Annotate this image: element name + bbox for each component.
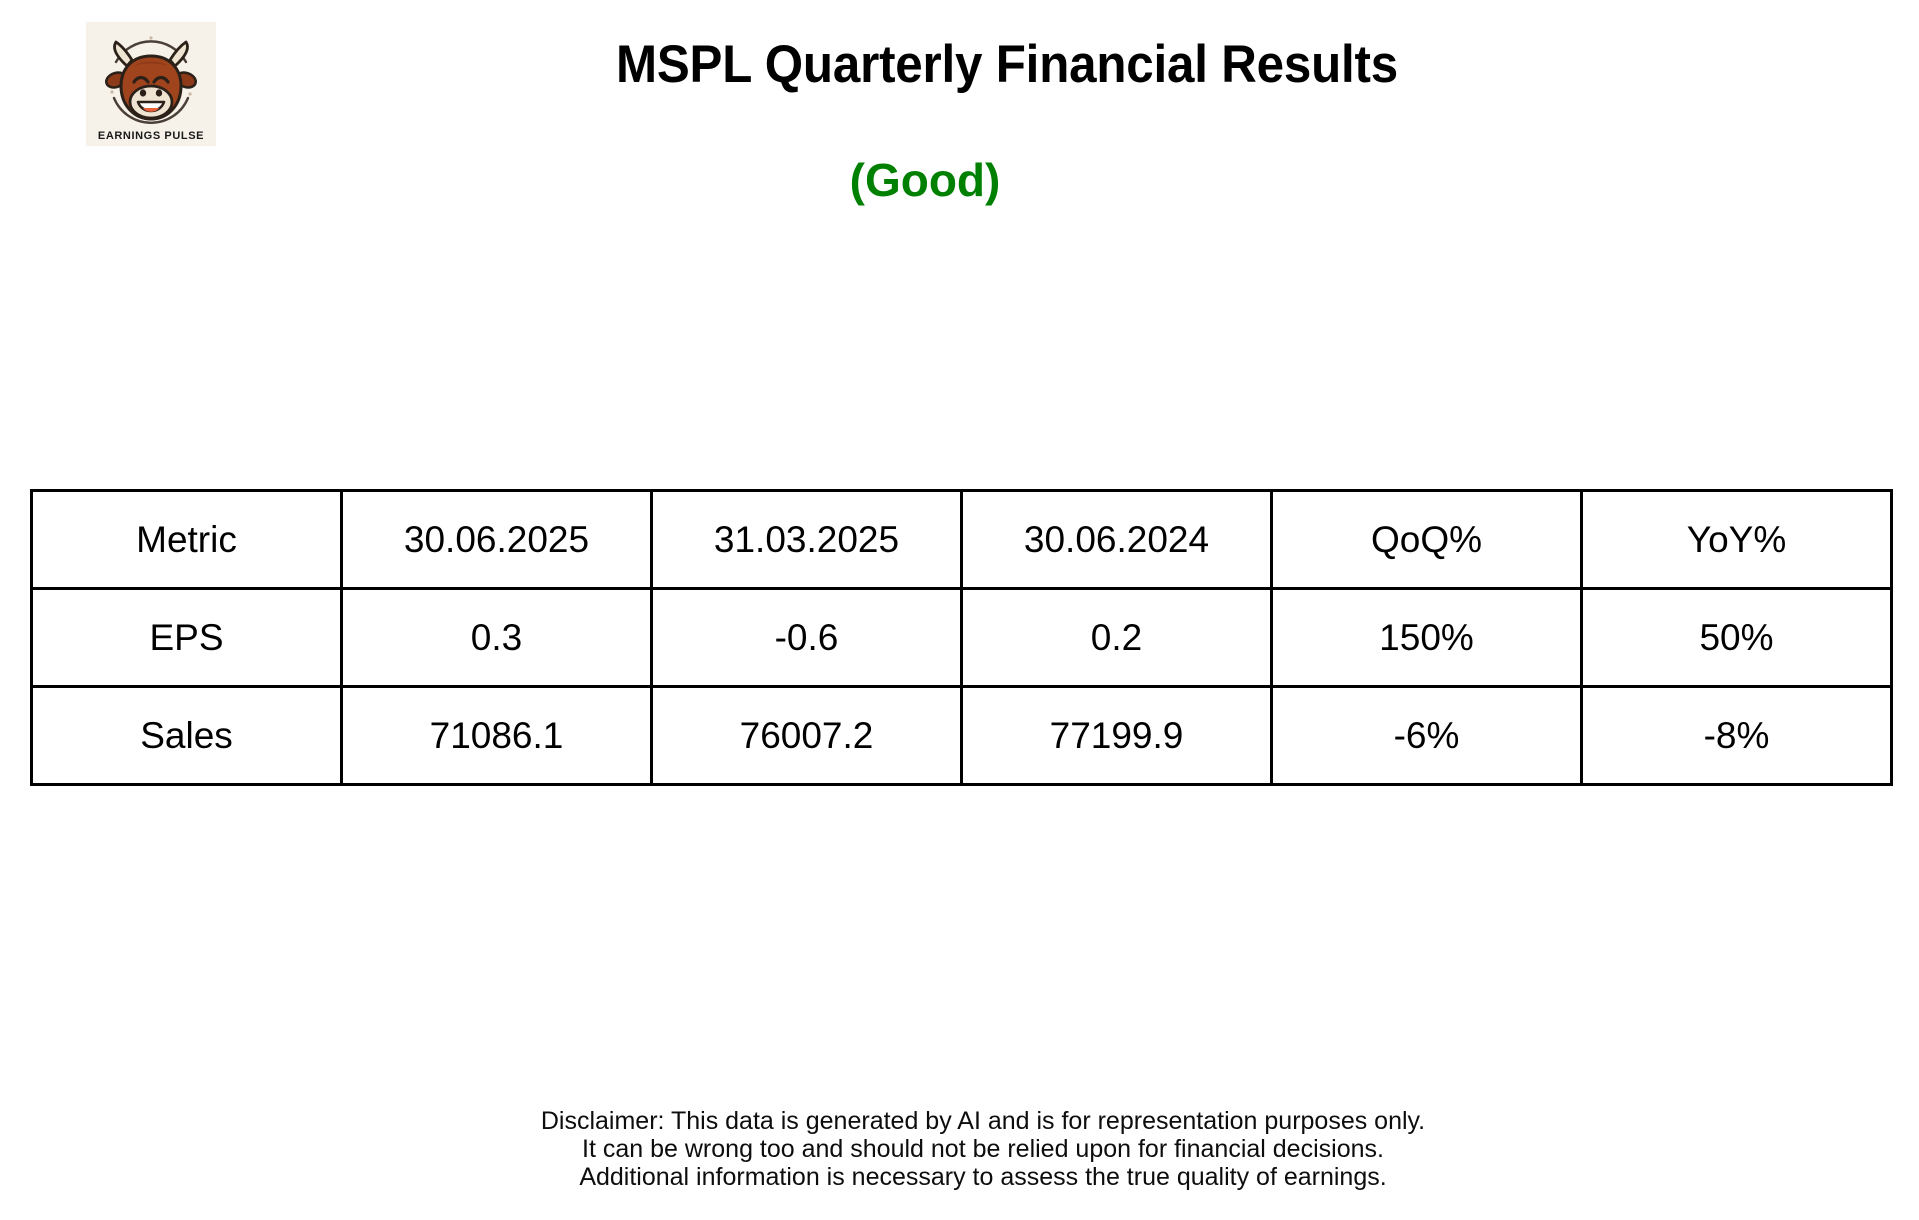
brand-logo-text: EARNINGS PULSE — [86, 130, 216, 142]
cell-metric-name: EPS — [32, 589, 342, 687]
cell-value-year-ago: 0.2 — [962, 589, 1272, 687]
cell-value-current: 71086.1 — [342, 687, 652, 785]
disclaimer: Disclaimer: This data is generated by AI… — [0, 1107, 1919, 1191]
cell-qoq: -6% — [1272, 687, 1582, 785]
column-header-q-previous: 31.03.2025 — [652, 491, 962, 589]
table-header-row: Metric 30.06.2025 31.03.2025 30.06.2024 … — [32, 491, 1892, 589]
sentiment-subtitle: (Good) — [0, 152, 1850, 208]
column-header-metric: Metric — [32, 491, 342, 589]
disclaimer-line-1: Disclaimer: This data is generated by AI… — [0, 1107, 1919, 1135]
disclaimer-line-2: It can be wrong too and should not be re… — [0, 1135, 1919, 1163]
table-row-sales: Sales 71086.1 76007.2 77199.9 -6% -8% — [32, 687, 1892, 785]
cell-value-previous: 76007.2 — [652, 687, 962, 785]
column-header-qoq: QoQ% — [1272, 491, 1582, 589]
cell-yoy: -8% — [1582, 687, 1892, 785]
cell-value-previous: -0.6 — [652, 589, 962, 687]
column-header-yoy: YoY% — [1582, 491, 1892, 589]
column-header-q-current: 30.06.2025 — [342, 491, 652, 589]
page-title: MSPL Quarterly Financial Results — [70, 33, 1919, 97]
cell-qoq: 150% — [1272, 589, 1582, 687]
column-header-q-year-ago: 30.06.2024 — [962, 491, 1272, 589]
cell-metric-name: Sales — [32, 687, 342, 785]
table-row-eps: EPS 0.3 -0.6 0.2 150% 50% — [32, 589, 1892, 687]
cell-value-year-ago: 77199.9 — [962, 687, 1272, 785]
cell-value-current: 0.3 — [342, 589, 652, 687]
cell-yoy: 50% — [1582, 589, 1892, 687]
disclaimer-line-3: Additional information is necessary to a… — [0, 1163, 1919, 1191]
quarterly-results-table: Metric 30.06.2025 31.03.2025 30.06.2024 … — [30, 489, 1893, 786]
earnings-results-card: { "brand": { "logo_icon": "bull-head-ico… — [0, 0, 1919, 1220]
